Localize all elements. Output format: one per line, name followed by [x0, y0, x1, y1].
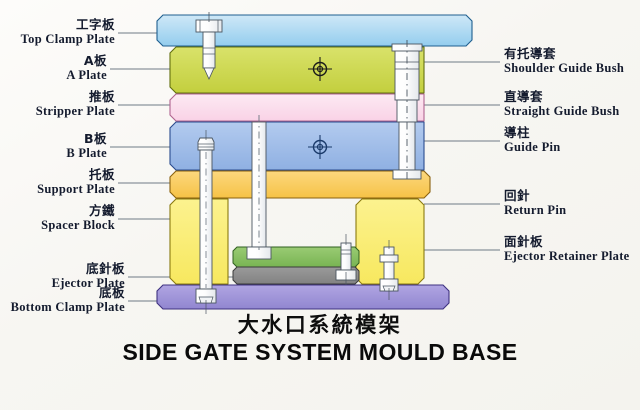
- label-return-pin: 回針 Return Pin: [504, 189, 566, 217]
- label-ejector-plate-cn: 底針板: [0, 262, 125, 276]
- label-straight-guide-bush: 直導套 Straight Guide Bush: [504, 90, 619, 118]
- figure-title-en: SIDE GATE SYSTEM MOULD BASE: [0, 338, 640, 367]
- label-a-plate: A板 A Plate: [0, 54, 107, 82]
- figure-title-cn: 大水口系統模架: [0, 312, 640, 338]
- label-return-pin-cn: 回針: [504, 189, 566, 203]
- label-a-plate-cn: A板: [0, 54, 107, 68]
- label-shoulder-guide-bush-en: Shoulder Guide Bush: [504, 61, 624, 75]
- plate-spacer-block-left: [170, 199, 228, 284]
- label-stripper-plate-en: Stripper Plate: [0, 104, 115, 118]
- label-guide-pin-en: Guide Pin: [504, 140, 561, 154]
- label-support-plate-cn: 托板: [0, 168, 115, 182]
- label-guide-pin-cn: 導柱: [504, 126, 561, 140]
- label-ejector-retainer-plate-cn: 面針板: [504, 235, 630, 249]
- label-straight-guide-bush-en: Straight Guide Bush: [504, 104, 619, 118]
- label-b-plate-en: B Plate: [0, 146, 107, 160]
- label-bottom-clamp-plate-cn: 底板: [0, 286, 125, 300]
- label-support-plate: 托板 Support Plate: [0, 168, 115, 196]
- label-top-clamp-plate-cn: 工字板: [0, 18, 115, 32]
- label-spacer-block: 方鐵 Spacer Block: [0, 204, 115, 232]
- label-spacer-block-cn: 方鐵: [0, 204, 115, 218]
- label-shoulder-guide-bush-cn: 有托導套: [504, 47, 624, 61]
- diagram-canvas: 工字板 Top Clamp Plate A板 A Plate 推板 Stripp…: [0, 0, 640, 410]
- label-ejector-retainer-plate: 面針板 Ejector Retainer Plate: [504, 235, 630, 263]
- plate-stripper-plate: [170, 94, 424, 121]
- label-b-plate: B板 B Plate: [0, 132, 107, 160]
- label-shoulder-guide-bush: 有托導套 Shoulder Guide Bush: [504, 47, 624, 75]
- label-support-plate-en: Support Plate: [0, 182, 115, 196]
- label-straight-guide-bush-cn: 直導套: [504, 90, 619, 104]
- figure-title: 大水口系統模架 SIDE GATE SYSTEM MOULD BASE: [0, 312, 640, 367]
- label-ejector-retainer-plate-en: Ejector Retainer Plate: [504, 249, 630, 263]
- label-stripper-plate: 推板 Stripper Plate: [0, 90, 115, 118]
- label-b-plate-cn: B板: [0, 132, 107, 146]
- label-bottom-clamp-plate: 底板 Bottom Clamp Plate: [0, 286, 125, 314]
- label-a-plate-en: A Plate: [0, 68, 107, 82]
- label-return-pin-en: Return Pin: [504, 203, 566, 217]
- label-top-clamp-plate-en: Top Clamp Plate: [0, 32, 115, 46]
- label-spacer-block-en: Spacer Block: [0, 218, 115, 232]
- label-guide-pin: 導柱 Guide Pin: [504, 126, 561, 154]
- label-stripper-plate-cn: 推板: [0, 90, 115, 104]
- label-top-clamp-plate: 工字板 Top Clamp Plate: [0, 18, 115, 46]
